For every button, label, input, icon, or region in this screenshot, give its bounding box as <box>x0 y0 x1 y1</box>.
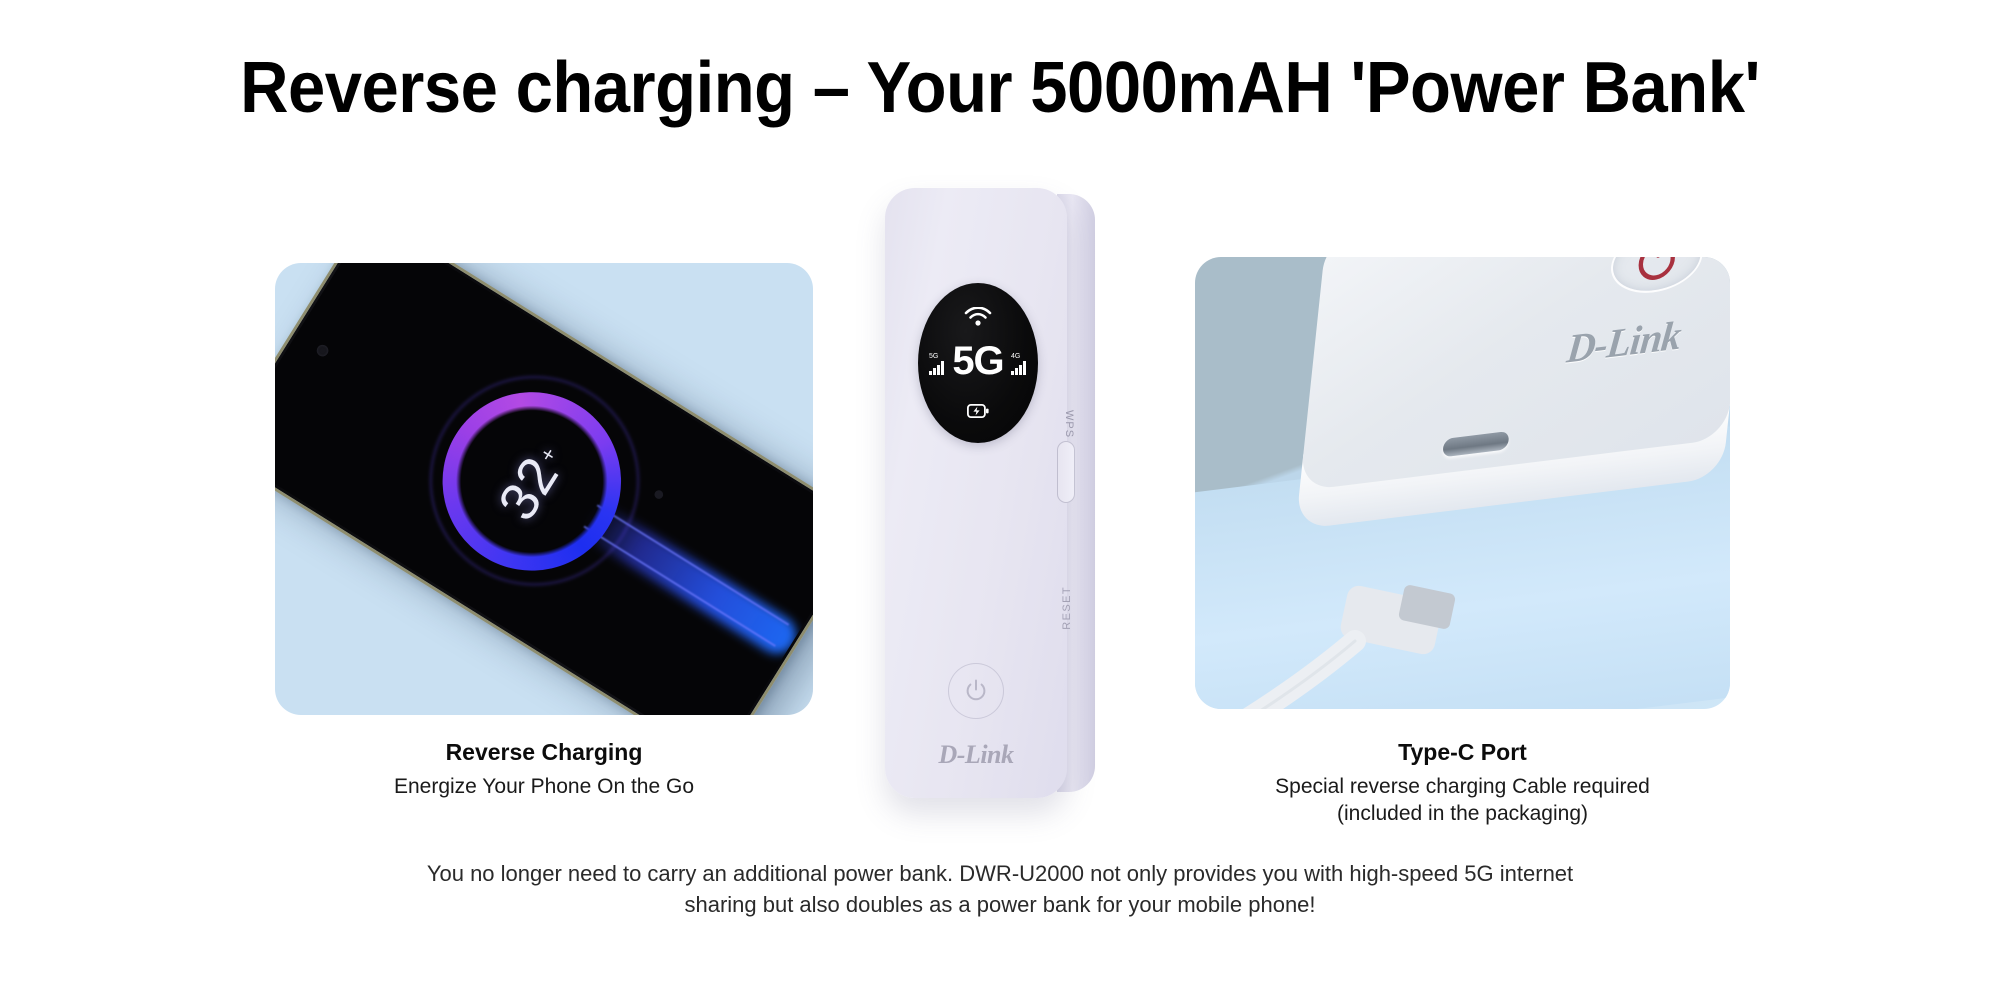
caption-title: Reverse Charging <box>275 738 813 767</box>
signal-bars-4g-icon: 4G <box>1011 353 1027 380</box>
type-c-port-photo-card: D-Link <box>1195 257 1730 709</box>
router-brand-logo: D-Link <box>1565 311 1683 373</box>
caption-subtitle-line-2: (included in the packaging) <box>1195 800 1730 827</box>
caption-reverse-charging: Reverse Charging Energize Your Phone On … <box>275 738 813 800</box>
device-power-button[interactable] <box>948 663 1004 719</box>
signal-bars-5g-icon: 5G <box>929 353 945 380</box>
power-icon <box>966 679 986 703</box>
footnote-text: You no longer need to carry an additiona… <box>400 858 1600 920</box>
phone-camera-icon <box>315 343 331 359</box>
wifi-icon <box>964 307 992 332</box>
battery-charging-icon <box>967 404 989 423</box>
phone-screen: 32+ <box>275 263 813 715</box>
caption-subtitle-line-1: Special reverse charging Cable required <box>1195 773 1730 800</box>
reverse-charging-photo-card: 32+ <box>275 263 813 715</box>
caption-type-c-port: Type-C Port Special reverse charging Cab… <box>1195 738 1730 827</box>
signal-bars-5g-label: 5G <box>929 353 945 360</box>
dwr-u2000-device: 5G 5G 4G <box>885 188 1095 798</box>
wps-label: WPS <box>1063 410 1075 438</box>
battery-percent-readout: 32+ <box>409 358 655 604</box>
phone-sensor-dot <box>653 489 665 501</box>
footnote-line-1: You no longer need to carry an additiona… <box>400 858 1600 889</box>
page-title: Reverse charging – Your 5000mAH 'Power B… <box>70 52 1930 124</box>
reset-label: RESET <box>1061 586 1073 630</box>
smartphone-illustration: 32+ <box>275 263 813 715</box>
footnote-line-2: sharing but also doubles as a power bank… <box>400 889 1600 920</box>
caption-title: Type-C Port <box>1195 738 1730 767</box>
device-status-display: 5G 5G 4G <box>918 283 1038 443</box>
wps-button[interactable] <box>1057 441 1075 503</box>
phone-body: 32+ <box>275 263 813 715</box>
signal-bars-4g-label: 4G <box>1011 353 1027 360</box>
device-brand-logo: D-Link <box>885 740 1067 770</box>
slide-canvas: Reverse charging – Your 5000mAH 'Power B… <box>0 0 2000 1008</box>
router-illustration: D-Link <box>1291 257 1730 573</box>
router-power-indicator <box>1608 257 1706 298</box>
caption-subtitle: Energize Your Phone On the Go <box>275 773 813 800</box>
usb-c-cable-icon <box>1215 557 1535 709</box>
